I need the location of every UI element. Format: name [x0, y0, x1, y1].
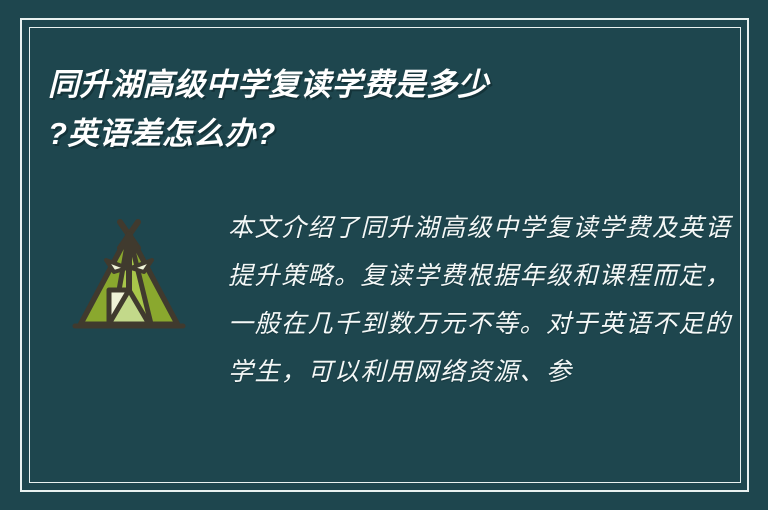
title-line-2: ?英语差怎么办?	[48, 109, 688, 158]
article-card: 同升湖高级中学复读学费是多少 ?英语差怎么办? 本文介绍了同升	[0, 0, 768, 510]
page-title: 同升湖高级中学复读学费是多少 ?英语差怎么办?	[48, 60, 688, 158]
article-body: 本文介绍了同升湖高级中学复读学费及英语提升策略。复读学费根据年级和课程而定，一般…	[29, 196, 741, 483]
tent-icon	[65, 214, 193, 338]
article-paragraph: 本文介绍了同升湖高级中学复读学费及英语提升策略。复读学费根据年级和课程而定，一般…	[228, 204, 741, 396]
text-column: 本文介绍了同升湖高级中学复读学费及英语提升策略。复读学费根据年级和课程而定，一般…	[228, 196, 741, 396]
title-line-1: 同升湖高级中学复读学费是多少	[48, 60, 688, 109]
icon-column	[29, 196, 228, 338]
